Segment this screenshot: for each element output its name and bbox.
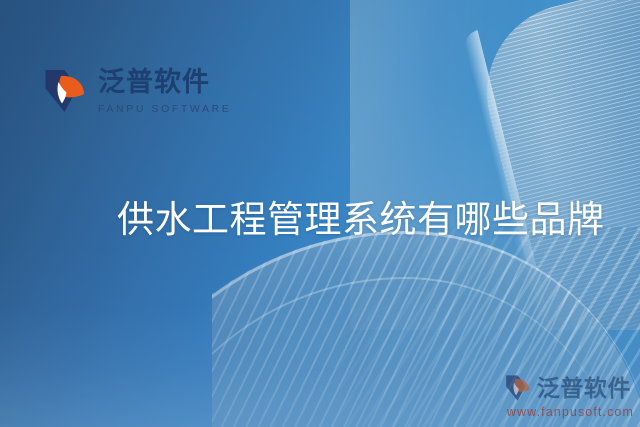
brand-text-block: 泛普软件 FANPU SOFTWARE (98, 66, 231, 115)
watermark-url: www.fanpusoft.com (507, 405, 634, 419)
fanpu-shield-sail-icon (44, 66, 88, 116)
brand-name-en: FANPU SOFTWARE (98, 103, 231, 115)
page-title: 供水工程管理系统有哪些品牌 (117, 199, 605, 243)
watermark: 泛普软件 www.fanpusoft.com (505, 373, 634, 419)
brand-name-cn: 泛普软件 (98, 69, 231, 96)
brand-logo: 泛普软件 FANPU SOFTWARE (44, 66, 231, 116)
fanpu-shield-sail-icon (505, 373, 532, 403)
watermark-logo-row: 泛普软件 (505, 373, 631, 403)
watermark-name-cn: 泛普软件 (537, 377, 631, 400)
banner-canvas: 泛普软件 FANPU SOFTWARE 供水工程管理系统有哪些品牌 泛普软件 w… (0, 0, 640, 427)
